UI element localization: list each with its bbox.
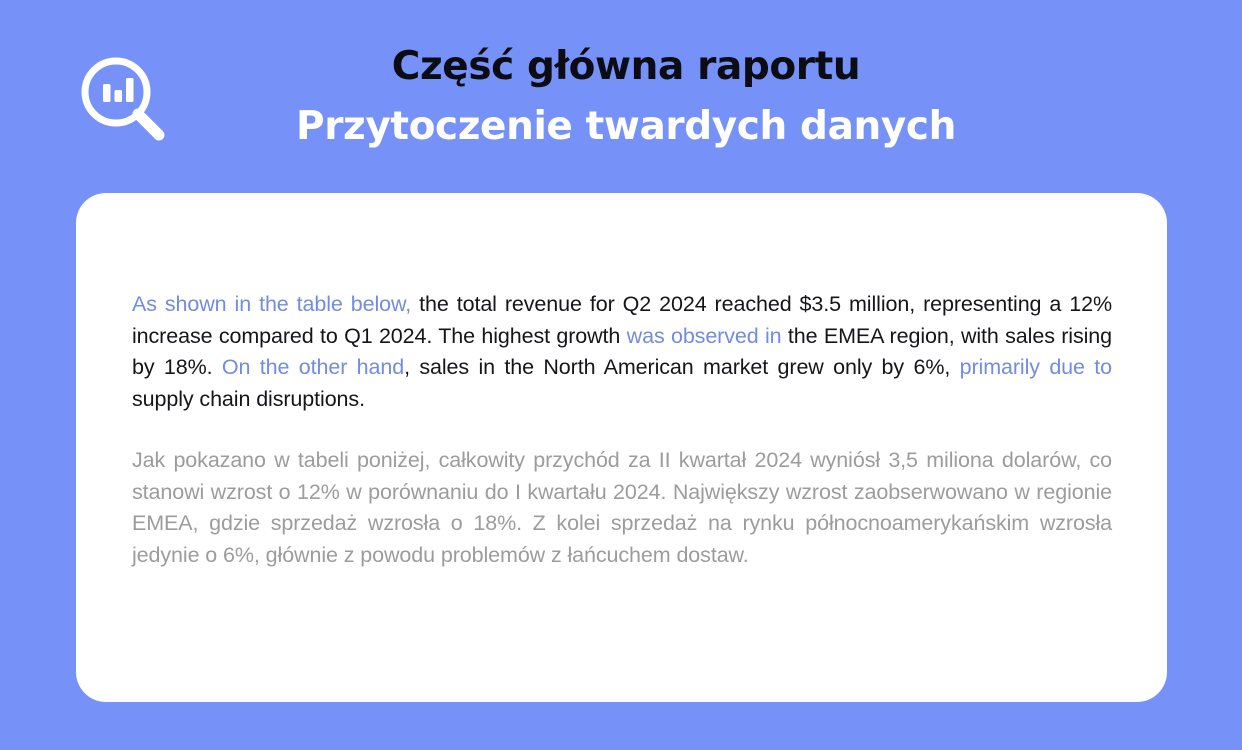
page-title: Część główna raportu Przytoczenie twardy… bbox=[176, 38, 1076, 158]
content-card-body: As shown in the table below, the total r… bbox=[132, 289, 1112, 571]
text-run: Jak pokazano w tabeli poniżej, całkowity… bbox=[132, 448, 1112, 567]
text-run: supply chain disruptions. bbox=[132, 387, 365, 411]
page-header: Część główna raportu Przytoczenie twardy… bbox=[0, 0, 1242, 193]
paragraph-english: As shown in the table below, the total r… bbox=[132, 289, 1112, 415]
page-title-line-1: Część główna raportu bbox=[176, 38, 1076, 96]
paragraph-polish: Jak pokazano w tabeli poniżej, całkowity… bbox=[132, 445, 1112, 571]
accent-phrase: was observed in bbox=[627, 324, 782, 348]
text-run: , sales in the North American market gre… bbox=[404, 355, 960, 379]
page-title-line-2: Przytoczenie twardych danych bbox=[176, 96, 1076, 158]
magnifier-bar-chart-icon bbox=[76, 52, 172, 148]
accent-phrase: As shown in the table below, bbox=[132, 292, 411, 316]
accent-phrase: On the other hand bbox=[222, 355, 404, 379]
content-card: As shown in the table below, the total r… bbox=[76, 193, 1167, 702]
accent-phrase: primarily due to bbox=[960, 355, 1112, 379]
